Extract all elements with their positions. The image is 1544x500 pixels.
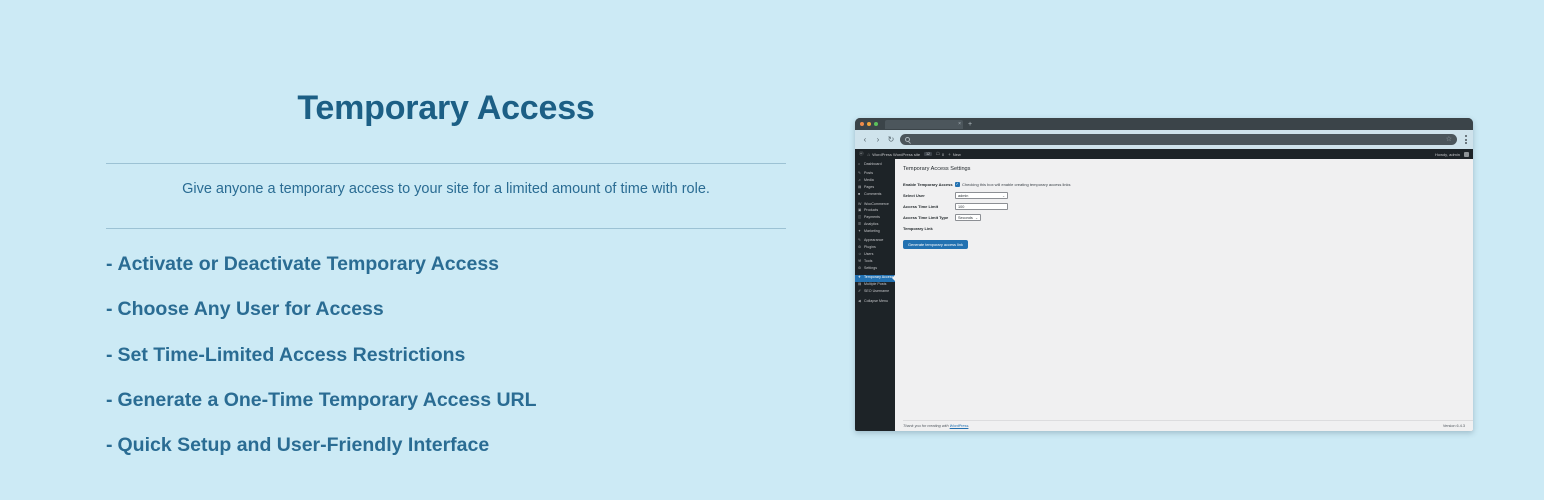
sidebar-item-label: Multiple Posts: [864, 283, 886, 287]
browser-viewport: ⓦ ⌂ WordPress WordPress site 12 ☖ 0 + Ne…: [855, 149, 1473, 431]
reload-icon[interactable]: ↻: [887, 136, 895, 144]
site-name-menu[interactable]: ⌂ WordPress WordPress site: [868, 152, 921, 157]
sidebar-item-marketing[interactable]: ✦ Marketing: [855, 228, 895, 235]
sidebar-item-collapse-menu[interactable]: ◀ Collapse Menu: [855, 298, 895, 305]
field-label: Access Time Limit: [903, 204, 955, 209]
tools-icon: ⚒: [858, 260, 862, 264]
sidebar-item-label: Collapse Menu: [864, 300, 888, 304]
bullet-dash: -: [106, 344, 113, 366]
wp-admin-footer: Thank you for creating with WordPress. V…: [903, 420, 1473, 431]
forward-icon[interactable]: ›: [874, 136, 882, 144]
feature-list: -Activate or Deactivate Temporary Access…: [106, 253, 786, 457]
form-row-temporary-link: Temporary Link: [903, 223, 1473, 234]
sidebar-item-tools[interactable]: ⚒ Tools: [855, 258, 895, 265]
comment-icon: ■: [858, 193, 862, 197]
sidebar-item-pages[interactable]: ▤ Pages: [855, 184, 895, 191]
field-label: Select User: [903, 193, 955, 198]
close-window-icon[interactable]: [860, 122, 864, 126]
plugins-icon: ⚙: [858, 246, 862, 250]
field-control: ✓ Checking this box will enable creating…: [955, 182, 1071, 187]
wp-admin-bar: ⓦ ⌂ WordPress WordPress site 12 ☖ 0 + Ne…: [855, 149, 1473, 159]
sidebar-item-appearance[interactable]: ✎ Appearance: [855, 238, 895, 245]
site-name-label: WordPress WordPress site: [872, 152, 920, 157]
marketing-icon: ✦: [858, 230, 862, 234]
new-label: New: [953, 152, 961, 157]
field-label: Temporary Link: [903, 226, 955, 231]
list-item: -Activate or Deactivate Temporary Access: [106, 253, 786, 275]
multiple-posts-icon: ▤: [858, 283, 862, 287]
bullet-dash: -: [106, 298, 113, 320]
updates-badge[interactable]: 12: [924, 152, 932, 156]
wp-version-label: Version 6.4.3: [1443, 424, 1465, 428]
analytics-icon: ☰: [858, 223, 862, 227]
comments-count: 0: [942, 152, 944, 157]
list-item: -Quick Setup and User-Friendly Interface: [106, 434, 786, 456]
sidebar-item-settings[interactable]: ⚙ Settings: [855, 265, 895, 272]
sidebar-item-label: Analytics: [864, 223, 878, 227]
feature-label: Choose Any User for Access: [118, 298, 384, 320]
home-icon: ⌂: [868, 152, 871, 157]
comment-icon: ☖: [936, 151, 940, 157]
sidebar-item-products[interactable]: ▣ Products: [855, 208, 895, 215]
chevron-down-icon: ⌄: [975, 216, 978, 220]
sidebar-item-label: Users: [864, 253, 873, 257]
sidebar-item-label: Media: [864, 179, 874, 183]
settings-panel: Temporary Access Settings Enable Tempora…: [895, 159, 1473, 431]
howdy-label[interactable]: Howdy, admin: [1435, 152, 1460, 157]
address-bar[interactable]: ☆: [900, 134, 1457, 145]
access-time-limit-input[interactable]: 100: [955, 203, 1008, 211]
comments-bubble[interactable]: ☖ 0: [936, 151, 944, 157]
page-title: Temporary Access: [106, 90, 786, 133]
wp-admin-body: ⌂ Dashboard ✎ Posts ♫ Media ▤ Pages: [855, 159, 1473, 431]
sidebar-item-comments[interactable]: ■ Comments: [855, 191, 895, 198]
sidebar-item-label: Payments: [864, 216, 880, 220]
footer-credit: Thank you for creating with WordPress.: [903, 424, 969, 428]
sidebar-item-label: Marketing: [864, 230, 880, 234]
divider-bottom: [106, 228, 786, 229]
promo-subtitle: Give anyone a temporary access to your s…: [106, 164, 786, 199]
users-icon: ☺: [858, 253, 862, 257]
field-control: admin ⌄: [955, 192, 1008, 200]
sidebar-item-label: Posts: [864, 172, 873, 176]
sidebar-item-label: Appearance: [864, 239, 883, 243]
wordpress-link[interactable]: WordPress: [950, 424, 969, 428]
gear-icon: ⚙: [858, 267, 862, 271]
sidebar-item-woocommerce[interactable]: W WooCommerce: [855, 201, 895, 208]
browser-toolbar: ‹ › ↻ ☆: [855, 130, 1473, 149]
bullet-dash: -: [106, 434, 113, 456]
browser-tab-strip: × +: [855, 118, 1473, 130]
wp-admin-sidebar: ⌂ Dashboard ✎ Posts ♫ Media ▤ Pages: [855, 159, 895, 431]
pencil-icon: ✎: [858, 172, 862, 176]
field-control: 100: [955, 203, 1008, 211]
back-icon[interactable]: ‹: [861, 136, 869, 144]
close-tab-icon[interactable]: ×: [958, 122, 961, 127]
footer-credit-suffix: .: [968, 424, 969, 428]
sidebar-item-label: Products: [864, 209, 878, 213]
enable-temporary-access-checkbox[interactable]: ✓: [955, 182, 960, 187]
sidebar-item-media[interactable]: ♫ Media: [855, 178, 895, 185]
feature-label: Set Time-Limited Access Restrictions: [118, 344, 466, 366]
settings-form: Enable Temporary Access ✓ Checking this …: [903, 179, 1473, 249]
promo-banner: Temporary Access Give anyone a temporary…: [0, 0, 1544, 500]
sidebar-item-label: SEO Username: [864, 290, 889, 294]
selected-value: admin: [958, 194, 968, 198]
footer-credit-prefix: Thank you for creating with: [903, 424, 950, 428]
form-row-select-user: Select User admin ⌄: [903, 190, 1473, 201]
field-label: Access Time Limit Type: [903, 215, 955, 220]
sidebar-item-dashboard[interactable]: ⌂ Dashboard: [855, 161, 895, 168]
input-value: 100: [958, 205, 964, 209]
browser-window-mockup: × + ‹ › ↻ ☆ ⓦ ⌂ WordPress WordPress site…: [855, 118, 1473, 431]
sidebar-item-multiple-posts[interactable]: ▤ Multiple Posts: [855, 282, 895, 289]
field-control: Seconds ⌄: [955, 214, 981, 222]
payments-icon: ◫: [858, 216, 862, 220]
select-user-dropdown[interactable]: admin ⌄: [955, 192, 1008, 200]
feature-label: Generate a One-Time Temporary Access URL: [118, 389, 537, 411]
wordpress-logo-icon[interactable]: ⓦ: [859, 151, 864, 157]
new-tab-icon[interactable]: +: [968, 121, 972, 128]
browser-tab[interactable]: ×: [885, 120, 963, 129]
form-row-access-time-limit: Access Time Limit 100: [903, 201, 1473, 212]
form-row-enable-temporary-access: Enable Temporary Access ✓ Checking this …: [903, 179, 1473, 190]
bullet-dash: -: [106, 253, 113, 275]
plus-icon: +: [948, 152, 951, 157]
feature-label: Quick Setup and User-Friendly Interface: [118, 434, 490, 456]
search-icon: [905, 137, 910, 142]
feature-label: Activate or Deactivate Temporary Access: [118, 253, 500, 275]
sidebar-item-label: Comments: [864, 193, 881, 197]
products-icon: ▣: [858, 209, 862, 213]
collapse-menu-icon: ◀: [858, 300, 862, 304]
generate-temporary-access-link-button[interactable]: Generate temporary access link: [903, 240, 968, 249]
sidebar-item-label: Tools: [864, 260, 872, 264]
bullet-dash: -: [106, 389, 113, 411]
form-row-access-time-limit-type: Access Time Limit Type Seconds ⌄: [903, 212, 1473, 223]
media-icon: ♫: [858, 179, 862, 183]
sidebar-item-analytics[interactable]: ☰ Analytics: [855, 221, 895, 228]
new-content-menu[interactable]: + New: [948, 152, 961, 157]
sidebar-item-payments[interactable]: ◫ Payments: [855, 214, 895, 221]
bookmark-star-icon[interactable]: ☆: [1446, 136, 1452, 143]
avatar[interactable]: [1464, 152, 1469, 157]
list-item: -Set Time-Limited Access Restrictions: [106, 344, 786, 366]
seo-username-icon: ✐: [858, 290, 862, 294]
minimize-window-icon[interactable]: [867, 122, 871, 126]
window-controls[interactable]: [860, 122, 878, 126]
page-icon: ▤: [858, 186, 862, 190]
sidebar-item-plugins[interactable]: ⚙ Plugins: [855, 245, 895, 252]
settings-heading: Temporary Access Settings: [903, 166, 1473, 172]
promo-text-column: Temporary Access Give anyone a temporary…: [106, 90, 786, 480]
sidebar-item-label: Plugins: [864, 246, 876, 250]
woocommerce-icon: W: [858, 203, 862, 207]
sidebar-item-label: Temporary Access: [864, 276, 893, 280]
maximize-window-icon[interactable]: [874, 122, 878, 126]
sidebar-item-label: Dashboard: [864, 163, 882, 167]
sidebar-item-seo-username[interactable]: ✐ SEO Username: [855, 288, 895, 295]
sidebar-item-label: WooCommerce: [864, 203, 889, 207]
dashboard-icon: ⌂: [858, 163, 862, 167]
list-item: -Choose Any User for Access: [106, 298, 786, 320]
access-time-limit-type-dropdown[interactable]: Seconds ⌄: [955, 214, 981, 222]
temporary-access-icon: ✈: [858, 276, 862, 280]
selected-value: Seconds: [958, 216, 973, 220]
browser-menu-icon[interactable]: [1462, 135, 1467, 144]
chevron-down-icon: ⌄: [1002, 194, 1005, 198]
list-item: -Generate a One-Time Temporary Access UR…: [106, 389, 786, 411]
field-description: Checking this box will enable creating t…: [962, 182, 1071, 187]
sidebar-item-posts[interactable]: ✎ Posts: [855, 171, 895, 178]
appearance-icon: ✎: [858, 239, 862, 243]
sidebar-item-users[interactable]: ☺ Users: [855, 251, 895, 258]
sidebar-item-temporary-access[interactable]: ✈ Temporary Access: [855, 275, 895, 282]
sidebar-item-label: Pages: [864, 186, 874, 190]
sidebar-item-label: Settings: [864, 267, 877, 271]
field-label: Enable Temporary Access: [903, 182, 955, 187]
